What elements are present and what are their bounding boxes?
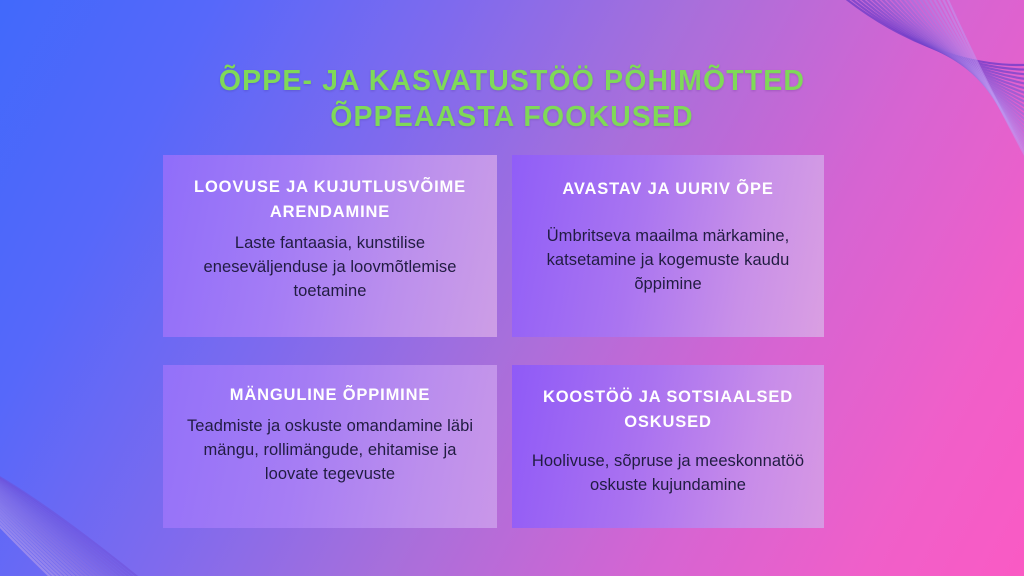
principle-card-play: MÄNGULINE ÕPPIMINE Teadmiste ja oskuste … xyxy=(163,365,497,528)
card-body: Ümbritseva maailma märkamine, katsetamin… xyxy=(526,224,810,296)
card-title: KOOSTÖÖ JA SOTSIAALSED OSKUSED xyxy=(526,385,810,435)
page-title-line-2: ÕPPEAASTA FOOKUSED xyxy=(0,99,1024,135)
card-title: AVASTAV JA UURIV ÕPE xyxy=(526,177,810,202)
page-title-line-1: ÕPPE- JA KASVATUSTÖÖ PÕHIMÕTTED xyxy=(219,65,805,97)
principle-card-cooperation: KOOSTÖÖ JA SOTSIAALSED OSKUSED Hoolivuse… xyxy=(512,365,824,528)
card-title: LOOVUSE JA KUJUTLUSVÕIME ARENDAMINE xyxy=(177,175,483,225)
page-title: ÕPPE- JA KASVATUSTÖÖ PÕHIMÕTTED ÕPPEAAST… xyxy=(0,63,1024,135)
principle-card-creativity: LOOVUSE JA KUJUTLUSVÕIME ARENDAMINE Last… xyxy=(163,155,497,337)
principles-card-grid: LOOVUSE JA KUJUTLUSVÕIME ARENDAMINE Last… xyxy=(163,155,824,528)
card-body: Hoolivuse, sõpruse ja meeskonnatöö oskus… xyxy=(526,449,810,497)
slide-canvas: ÕPPE- JA KASVATUSTÖÖ PÕHIMÕTTED ÕPPEAAST… xyxy=(0,0,1024,576)
principle-card-discovery: AVASTAV JA UURIV ÕPE Ümbritseva maailma … xyxy=(512,155,824,337)
card-body: Teadmiste ja oskuste omandamine läbi män… xyxy=(177,414,483,486)
card-body: Laste fantaasia, kunstilise eneseväljend… xyxy=(177,231,483,303)
card-title: MÄNGULINE ÕPPIMINE xyxy=(177,383,483,408)
